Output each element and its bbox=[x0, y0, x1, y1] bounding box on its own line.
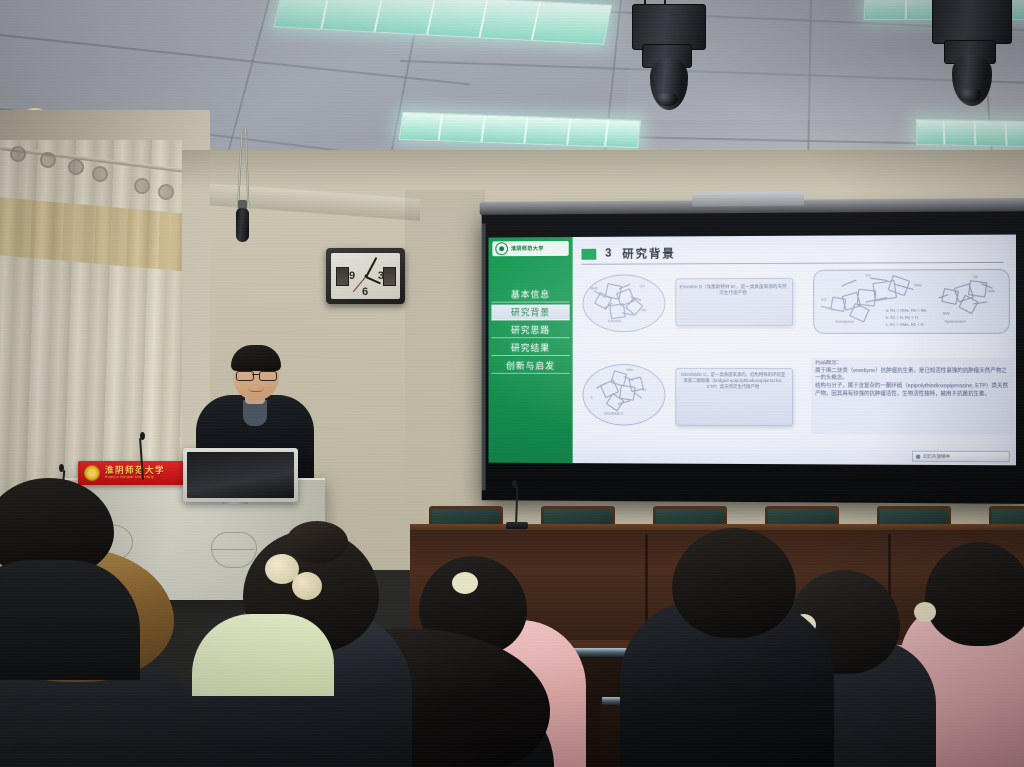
description-text: 药品概念： 属于烯二炔类（enediyne）抗肿瘤抗生素，是已知活性最强的抗肿瘤… bbox=[815, 360, 1012, 433]
slide-header: 3 研究背景 bbox=[581, 242, 1003, 265]
slide-nav-item-1[interactable]: 研究背景 bbox=[491, 304, 569, 320]
presenter-hair bbox=[231, 345, 281, 371]
projection-screen: 淮阴师范大学 基本信息 研究背景 研究思路 研究结果 创新与启发 bbox=[482, 210, 1024, 504]
lecture-hall-photo: 9 3 6 淮阴师范大学 基本信 bbox=[0, 0, 1024, 767]
banner-name-cn: 淮阴师范大学 bbox=[105, 466, 165, 475]
slide-sidebar: 淮阴师范大学 基本信息 研究背景 研究思路 研究结果 创新与启发 bbox=[488, 237, 572, 463]
banner-name-en: Huaiyin Normal University bbox=[105, 476, 165, 479]
clock-number-9: 9 bbox=[349, 270, 355, 282]
ceiling-light-1 bbox=[274, 0, 613, 45]
slide-nav-label-1: 研究背景 bbox=[511, 305, 550, 318]
molecule-emestrin-b: MeO OH Me Emestrin bbox=[590, 280, 657, 324]
callout-dibrefeldin-text: Dibrefeldin C，是一类真菌来源的，结构特殊的环硫亚苯基二酮哌嗪（br… bbox=[679, 372, 787, 420]
slide-status-text: 幻灯片放映中 bbox=[923, 453, 950, 459]
podium-emblem-divider bbox=[211, 548, 255, 550]
slide-nav-label-2: 研究思路 bbox=[511, 323, 550, 336]
university-seal-icon bbox=[84, 465, 100, 481]
ceiling-light-2 bbox=[399, 112, 641, 148]
presentation-slide: 淮阴师范大学 基本信息 研究背景 研究思路 研究结果 创新与启发 bbox=[488, 235, 1016, 466]
substituent-note-2: c: R1 = OMe, R2 = H bbox=[886, 322, 967, 328]
slide-nav-item-3[interactable]: 研究结果 bbox=[491, 340, 569, 356]
slide-nav-label-0: 基本信息 bbox=[511, 288, 550, 301]
slide-nav-item-2[interactable]: 研究思路 bbox=[491, 322, 569, 338]
clock-number-3: 3 bbox=[378, 270, 384, 282]
slide-title-text: 研究背景 bbox=[622, 245, 675, 261]
slide-nav-item-0[interactable]: 基本信息 bbox=[491, 287, 569, 303]
screen-mount-bracket bbox=[692, 192, 804, 207]
slide-nav-label-4: 创新与启发 bbox=[506, 359, 555, 372]
logo-seal-icon bbox=[495, 242, 508, 255]
wall-clock: 9 3 6 bbox=[326, 248, 405, 304]
slide-title-number: 3 bbox=[605, 248, 613, 260]
callout-emestrin-text: Emestrin B（埃墨斯特林 B），是一类真菌来源的天然次生代谢产物 bbox=[679, 284, 787, 320]
slide-nav-label-3: 研究结果 bbox=[511, 341, 550, 354]
status-dot-icon bbox=[916, 454, 920, 458]
wall-shadow-right bbox=[405, 190, 485, 520]
molecule-dibrefeldin-c: OMe Me S Dibrefeldin C bbox=[590, 370, 657, 418]
slide-status-badge: 幻灯片放映中 bbox=[912, 451, 1010, 463]
presenter-mouth bbox=[248, 387, 264, 392]
podium-emblem-right-icon bbox=[211, 532, 257, 568]
clock-number-6: 6 bbox=[362, 286, 368, 298]
podium-monitor bbox=[183, 448, 298, 502]
ceiling-light-3 bbox=[916, 119, 1024, 147]
logo-label: 淮阴师范大学 bbox=[511, 245, 544, 252]
substituent-note-0: a: R1 = OMe, R2 = Me bbox=[886, 308, 967, 314]
hair-bun bbox=[286, 521, 348, 563]
substituent-note-1: b: R1 = H, R2 = H bbox=[886, 315, 967, 321]
hoodie-collar bbox=[192, 614, 334, 696]
title-bullet-icon bbox=[581, 248, 596, 259]
slide-nav-item-4[interactable]: 创新与启发 bbox=[491, 358, 569, 374]
university-logo: 淮阴师范大学 bbox=[492, 241, 568, 256]
